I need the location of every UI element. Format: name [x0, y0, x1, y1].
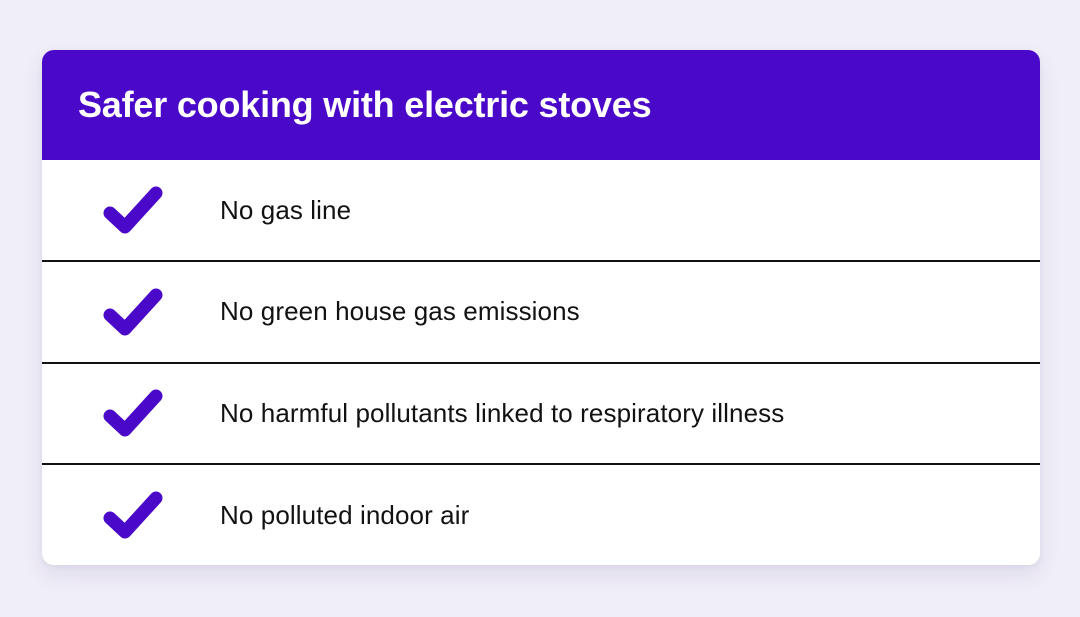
benefits-list: No gas line No green house gas emissions… — [42, 160, 1040, 565]
list-item: No harmful pollutants linked to respirat… — [42, 362, 1040, 464]
check-cell — [42, 387, 220, 439]
list-item-label: No green house gas emissions — [220, 295, 580, 328]
check-icon — [102, 489, 164, 541]
check-cell — [42, 286, 220, 338]
list-item-label: No harmful pollutants linked to respirat… — [220, 397, 784, 430]
page-canvas: Safer cooking with electric stoves No ga… — [0, 0, 1080, 617]
list-item-label: No gas line — [220, 194, 351, 227]
check-icon — [102, 286, 164, 338]
list-item: No green house gas emissions — [42, 260, 1040, 362]
benefits-card: Safer cooking with electric stoves No ga… — [42, 50, 1040, 565]
card-title: Safer cooking with electric stoves — [78, 85, 651, 125]
check-icon — [102, 387, 164, 439]
list-item-label: No polluted indoor air — [220, 499, 469, 532]
card-header: Safer cooking with electric stoves — [42, 50, 1040, 160]
list-item: No polluted indoor air — [42, 463, 1040, 565]
list-item: No gas line — [42, 160, 1040, 260]
check-cell — [42, 184, 220, 236]
check-cell — [42, 489, 220, 541]
check-icon — [102, 184, 164, 236]
